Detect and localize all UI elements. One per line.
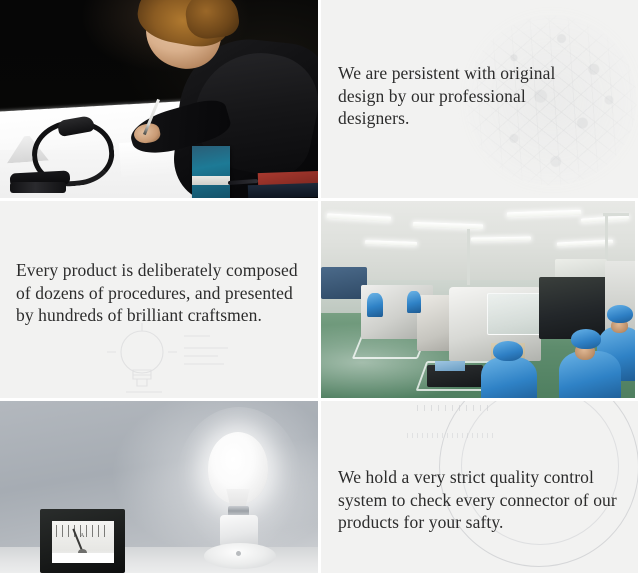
base-switch — [236, 551, 241, 556]
quality-text-panel: We hold a very strict quality control sy… — [321, 401, 641, 573]
measurement-ticks-watermark-icon — [417, 405, 489, 411]
ammeter-lower-strip — [52, 553, 114, 563]
product-feature-banner: We are persistent with original design b… — [0, 0, 641, 573]
factory-photo — [321, 201, 638, 398]
led-bulb-photo: A — [0, 401, 318, 573]
bulb-blueprint-watermark-icon — [96, 318, 246, 398]
row-gutter — [0, 198, 641, 201]
design-statement-text: We are persistent with original design b… — [338, 62, 598, 130]
notebook-pages — [192, 176, 230, 185]
craftsmanship-statement-text: Every product is deliberately composed o… — [16, 259, 301, 327]
worker-cap — [493, 341, 523, 361]
inspection-station — [539, 277, 613, 339]
row-gutter — [0, 398, 641, 401]
column-gutter — [318, 0, 321, 573]
dark-book — [248, 183, 318, 198]
teal-notebook — [192, 146, 230, 198]
crate-contents — [435, 361, 465, 371]
ceiling-bracket — [603, 213, 629, 216]
desk-clutter — [10, 182, 66, 193]
distant-worker — [407, 291, 421, 313]
designer-photo — [0, 0, 318, 198]
measurement-ticks-watermark-icon — [407, 433, 495, 438]
ceiling-pole — [467, 229, 470, 285]
distant-worker — [367, 293, 383, 317]
quality-statement-text: We hold a very strict quality control sy… — [338, 466, 628, 534]
worker-gown — [481, 357, 537, 398]
craftsmanship-text-panel: Every product is deliberately composed o… — [0, 201, 318, 398]
machine-glass-cover — [487, 293, 543, 335]
worker-cap — [607, 305, 633, 323]
design-text-panel: We are persistent with original design b… — [321, 0, 641, 198]
lamp-base-disc — [204, 543, 276, 569]
worker-cap — [571, 329, 601, 349]
ammeter-unit-label: A — [80, 533, 84, 539]
